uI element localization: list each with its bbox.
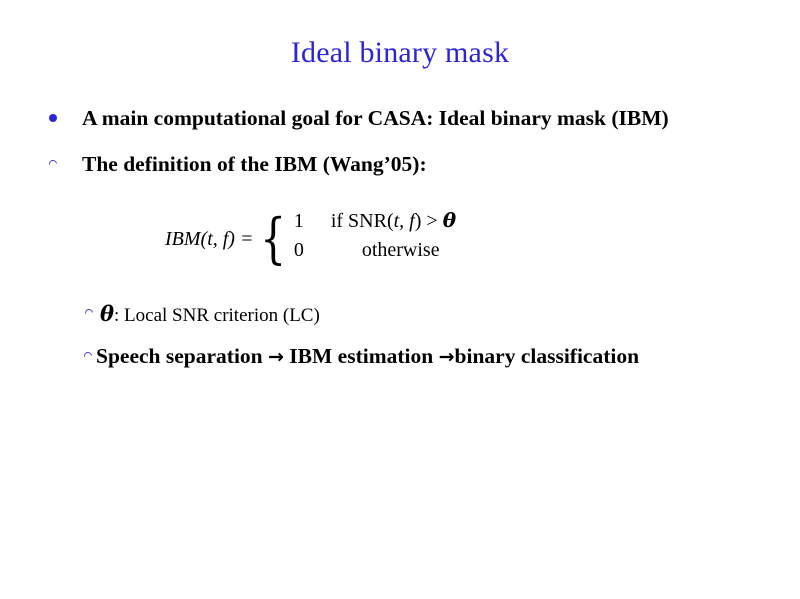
pipeline-part-2: IBM estimation: [284, 344, 439, 368]
sub-bullet-item-pipeline: Speech separation → IBM estimation →bina…: [0, 342, 676, 371]
equation-theta-symbol: θ: [443, 208, 456, 232]
equation-cases: 1 if SNR(t, f) > θ 0 otherwise: [294, 208, 456, 270]
pipeline-part-1: Speech separation: [96, 344, 268, 368]
equation-cond-prefix-1: if SNR(: [331, 210, 394, 232]
equation-case-value-1: 1: [294, 210, 314, 233]
slide-title: Ideal binary mask: [0, 36, 800, 70]
equation-cond-vars-1: t, f: [394, 210, 415, 232]
equation-case-condition-1: if SNR(t, f) > θ: [314, 208, 456, 233]
equation-brace: {: [261, 217, 287, 261]
equation-case-value-2: 0: [294, 239, 314, 262]
equation-case-condition-2: otherwise: [314, 239, 440, 262]
equation-case-row-2: 0 otherwise: [294, 239, 456, 270]
right-arrow-icon: →: [268, 346, 284, 368]
equation-case-row-1: 1 if SNR(t, f) > θ: [294, 208, 456, 239]
bullet-item-ibm-definition: The definition of the IBM (Wang’05):: [0, 150, 722, 179]
slide-body: A main computational goal for CASA: Idea…: [0, 104, 800, 370]
pipeline-part-3: binary classification: [455, 344, 640, 368]
equation-inner: IBM(t, f) = { 1 if SNR(t, f) > θ 0 other…: [165, 208, 456, 270]
open-ring-bullet-icon: [82, 350, 93, 361]
ibm-equation: IBM(t, f) = { 1 if SNR(t, f) > θ 0 other…: [0, 208, 800, 272]
bullet-text-main-goal: A main computational goal for CASA: Idea…: [82, 106, 669, 130]
open-ring-bullet-icon: [83, 308, 94, 319]
equation-cond-suffix-1: ) >: [415, 210, 443, 232]
sub-bullet-theta-symbol: θ: [100, 301, 114, 326]
slide-canvas: Ideal binary mask A main computational g…: [0, 0, 800, 599]
right-arrow-icon: →: [439, 346, 455, 368]
filled-dot-bullet-icon: [49, 114, 57, 122]
sub-bullet-text-lc: : Local SNR criterion (LC): [114, 305, 320, 326]
sub-bullet-item-lc: θ: Local SNR criterion (LC): [0, 300, 700, 329]
open-ring-bullet-icon: [47, 158, 58, 169]
bullet-text-ibm-definition: The definition of the IBM (Wang’05):: [82, 152, 427, 176]
equation-lhs: IBM(t, f) =: [165, 228, 255, 251]
bullet-item-main-goal: A main computational goal for CASA: Idea…: [0, 104, 722, 133]
